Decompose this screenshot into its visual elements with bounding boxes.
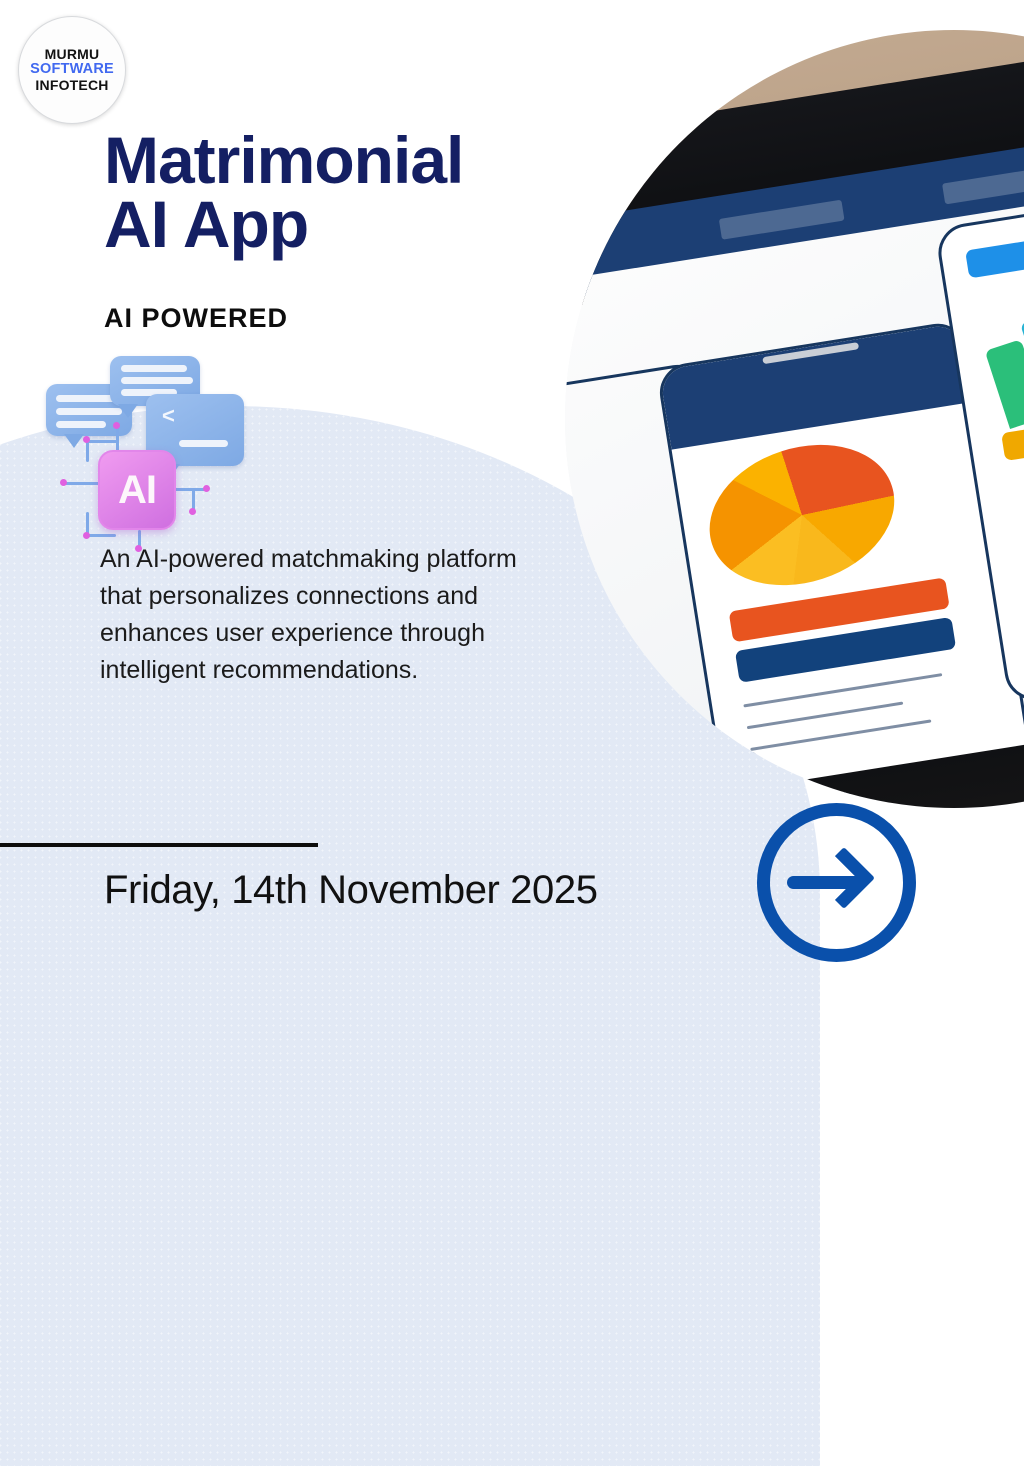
circuit-trace-8 [86, 534, 116, 537]
chat-bubble-top-tail [118, 404, 138, 418]
hero-image-content [565, 30, 1024, 808]
hero-image-circle [565, 30, 1024, 808]
circuit-node-3 [60, 479, 67, 486]
ai-chip: AI [98, 450, 176, 530]
description-text: An AI-powered matchmaking platform that … [100, 541, 530, 689]
navbar-tab-1[interactable] [719, 200, 844, 239]
title-line-1: Matrimonial [104, 123, 463, 197]
circuit-trace-5 [172, 488, 206, 491]
poster-canvas: MURMU SOFTWARE INFOTECH Matrimonial AI A… [0, 0, 1024, 1024]
circuit-trace-2 [86, 440, 118, 443]
circuit-trace-3 [86, 440, 89, 462]
arrow-head [813, 847, 875, 909]
subtitle-kicker: AI POWERED [104, 303, 288, 334]
bar-chart [977, 263, 1024, 429]
circuit-node-4 [203, 485, 210, 492]
brand-logo: MURMU SOFTWARE INFOTECH [18, 16, 126, 124]
circuit-trace-1 [116, 426, 119, 452]
code-caret-icon: < [162, 403, 175, 429]
filter-chip-1[interactable] [965, 239, 1024, 279]
logo-line-3: INFOTECH [35, 78, 108, 93]
divider-rule [0, 843, 318, 847]
event-date: Friday, 14th November 2025 [104, 868, 598, 913]
circuit-node-2 [83, 436, 90, 443]
ai-chip-illustration: < AI [42, 352, 252, 552]
title-line-2: AI App [104, 192, 463, 256]
pie-chart [692, 422, 913, 607]
circuit-node-5 [189, 508, 196, 515]
circuit-node-1 [113, 422, 120, 429]
logo-line-2: SOFTWARE [30, 62, 114, 78]
page-title: Matrimonial AI App [104, 128, 463, 256]
circuit-trace-4 [64, 482, 100, 485]
circuit-node-6 [83, 532, 90, 539]
navbar-tab-2[interactable] [942, 165, 1024, 204]
chat-bubble-left-tail [64, 434, 84, 448]
arrow-right-circle-icon[interactable] [757, 803, 916, 962]
circuit-trace-6 [192, 488, 195, 510]
logo-line-1: MURMU [45, 47, 100, 62]
